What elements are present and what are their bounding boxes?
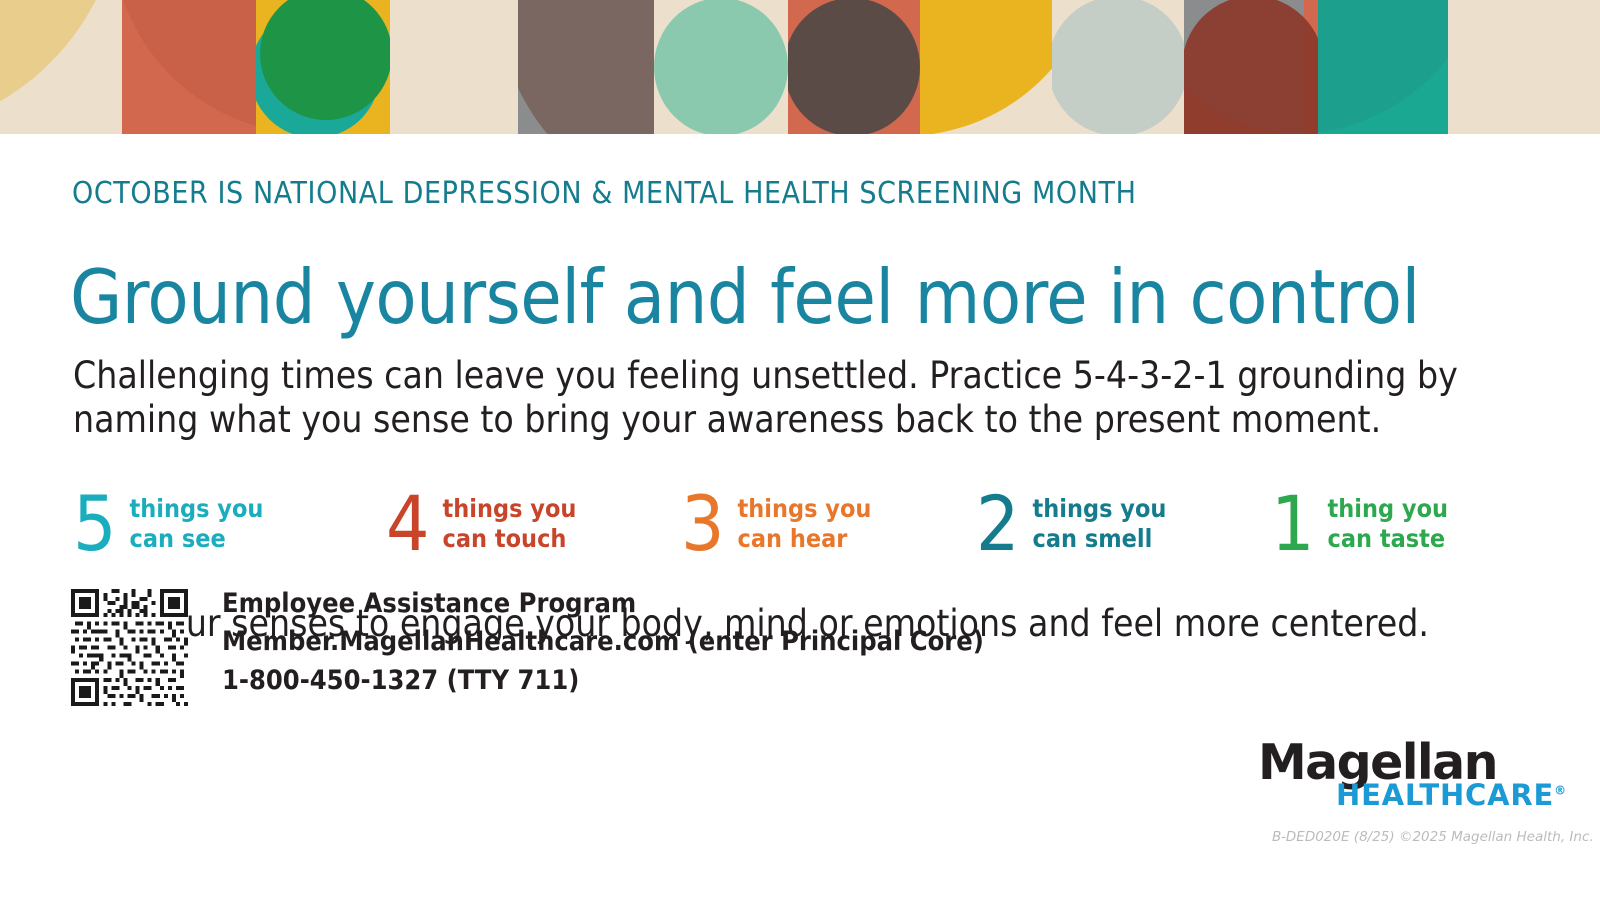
grounding-steps-list: 5 things you can see 4 things you can to…: [73, 479, 1533, 569]
grounding-step-2: 2 things you can smell: [976, 479, 1166, 569]
legal-fineprint: B-DED020E (8/25) ©2025 Magellan Health, …: [1272, 829, 1594, 845]
grounding-step-5: 5 things you can see: [73, 479, 263, 569]
grounding-step-1-label-line2: can taste: [1328, 524, 1449, 555]
grounding-step-2-label-line1: things you: [1033, 494, 1167, 525]
banner-tile-trailing-cream: [1448, 0, 1600, 134]
banner-tile-gold-green-circle: [256, 0, 390, 134]
banner-tile-sand-quarter-circle: [0, 0, 122, 134]
grounding-step-2-label: things you can smell: [1033, 494, 1167, 555]
terracotta-quarter-shape: [122, 0, 256, 134]
darkbrown-circle-shape: [788, 0, 920, 134]
contact-phone[interactable]: 1-800-450-1327 (TTY 711): [222, 662, 984, 700]
grounding-step-1-number: 1: [1271, 486, 1314, 562]
grounding-step-4-number: 4: [386, 486, 429, 562]
grounding-step-1-label-line1: thing you: [1328, 494, 1449, 525]
registered-trademark-icon: ®: [1554, 783, 1566, 797]
grounding-step-4-label-line1: things you: [443, 494, 577, 525]
grounding-step-5-label-line2: can see: [130, 524, 264, 555]
logo-subbrand: HEALTHCARE®: [1336, 781, 1508, 810]
grounding-step-1: 1 thing you can taste: [1271, 479, 1448, 569]
grounding-step-5-label-line1: things you: [130, 494, 264, 525]
poster-root: OCTOBER IS NATIONAL DEPRESSION & MENTAL …: [0, 0, 1600, 900]
grounding-step-4-label: things you can touch: [443, 494, 577, 555]
grounding-step-1-label: thing you can taste: [1328, 494, 1449, 555]
grounding-step-5-label: things you can see: [130, 494, 264, 555]
banner-tile-gold-quarter-circle: [920, 0, 1052, 134]
banner-tile-terracotta-square: [122, 0, 256, 134]
contact-block: Employee Assistance Program Member.Magel…: [222, 585, 984, 700]
grounding-step-2-number: 2: [976, 486, 1019, 562]
brown-quarter-shape: [518, 0, 654, 134]
grounding-step-3: 3 things you can hear: [681, 479, 871, 569]
banner-tile-teal-quarter: [1318, 0, 1448, 134]
eyebrow-text: OCTOBER IS NATIONAL DEPRESSION & MENTAL …: [72, 176, 1137, 211]
palegray-circle-shape: [1052, 0, 1184, 134]
banner-tile-cream-gap: [390, 0, 518, 134]
magellan-healthcare-logo: Magellan HEALTHCARE®: [1258, 738, 1508, 810]
banner-tile-maroon-arch: [1184, 0, 1318, 134]
contact-website[interactable]: Member.MagellanHealthcare.com (enter Pri…: [222, 623, 984, 661]
banner-tile-gray-brown-quarter: [518, 0, 654, 134]
gold-quarter-shape: [920, 0, 1052, 134]
grounding-step-3-number: 3: [681, 486, 724, 562]
contact-program-name: Employee Assistance Program: [222, 585, 984, 623]
logo-subbrand-text: HEALTHCARE: [1336, 778, 1554, 812]
banner-tile-mint-circle: [654, 0, 788, 134]
intro-paragraph: Challenging times can leave you feeling …: [73, 354, 1523, 441]
mint-circle-shape: [654, 0, 788, 134]
grounding-step-4: 4 things you can touch: [386, 479, 576, 569]
grounding-step-3-label-line2: can hear: [738, 524, 872, 555]
grounding-step-4-label-line2: can touch: [443, 524, 577, 555]
intro-line-2: naming what you sense to bring your awar…: [73, 398, 1523, 442]
page-title: Ground yourself and feel more in control: [70, 260, 1420, 335]
grounding-step-3-label: things you can hear: [738, 494, 872, 555]
banner-tile-palegray-circle: [1052, 0, 1184, 134]
banner-tile-darkbrown-circle: [788, 0, 920, 134]
grounding-step-5-number: 5: [73, 486, 116, 562]
intro-line-1: Challenging times can leave you feeling …: [73, 354, 1523, 398]
sand-quarter-circle-shape: [0, 0, 122, 134]
grounding-step-3-label-line1: things you: [738, 494, 872, 525]
qr-code[interactable]: [71, 589, 188, 706]
decorative-banner: [0, 0, 1600, 134]
maroon-arch-shape: [1184, 0, 1318, 134]
grounding-step-2-label-line2: can smell: [1033, 524, 1167, 555]
